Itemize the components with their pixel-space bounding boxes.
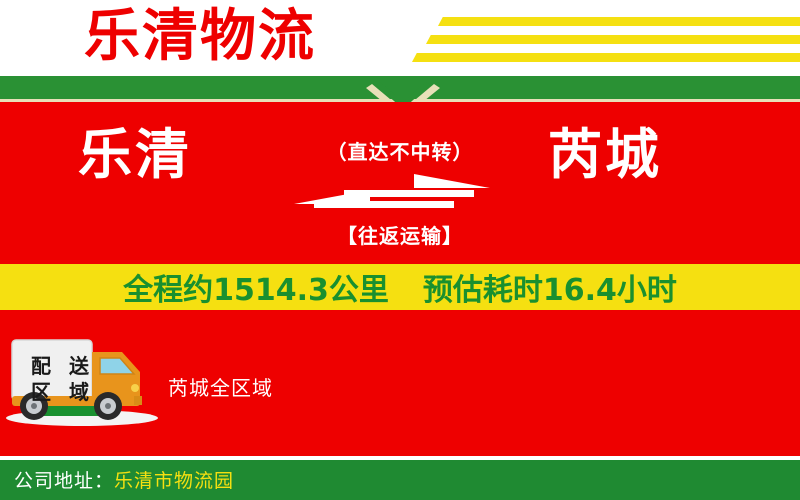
total-distance: 全程约1514.3公里 [123,265,389,309]
logistics-route-banner: 乐清物流 乐清 （直达不中转） [0,0,800,500]
brand-title: 乐清物流 [84,3,316,71]
origin-city: 乐清 [78,124,192,186]
banner-header: 乐清物流 [0,0,800,76]
company-address-value: 乐清市物流园 [114,470,234,492]
delivery-region: 芮城全区域 [168,372,273,401]
truck-label-char-2: 送 [69,354,89,378]
route-panel: 乐清 （直达不中转） 【往返运输】 芮城 [0,102,800,264]
stripe-3 [412,53,800,62]
truck-label-char-3: 区 [31,380,51,404]
route-note-bottom: 【往返运输】 [300,220,500,249]
banner-footer: 公司地址：乐清市物流园 [0,460,800,500]
truck-body-label: 配 送 区 域 [22,353,98,405]
delivery-panel: 配 送 区 域 芮城全区域 [0,310,800,456]
destination-city: 芮城 [548,124,662,186]
estimated-duration: 预估耗时16.4小时 [423,265,677,309]
stripe-2 [426,35,800,44]
double-arrow-icon [294,174,490,218]
truck-label-char-4: 域 [69,380,89,404]
truck-label-char-1: 配 [31,354,51,378]
decorative-stripes [396,14,800,66]
company-address-label: 公司地址： [14,470,114,492]
delivery-truck-icon: 配 送 区 域 [4,328,166,438]
metrics-band: 全程约1514.3公里 预估耗时16.4小时 [0,264,800,310]
stripe-1 [438,17,800,26]
route-note-top: （直达不中转） [300,136,500,165]
